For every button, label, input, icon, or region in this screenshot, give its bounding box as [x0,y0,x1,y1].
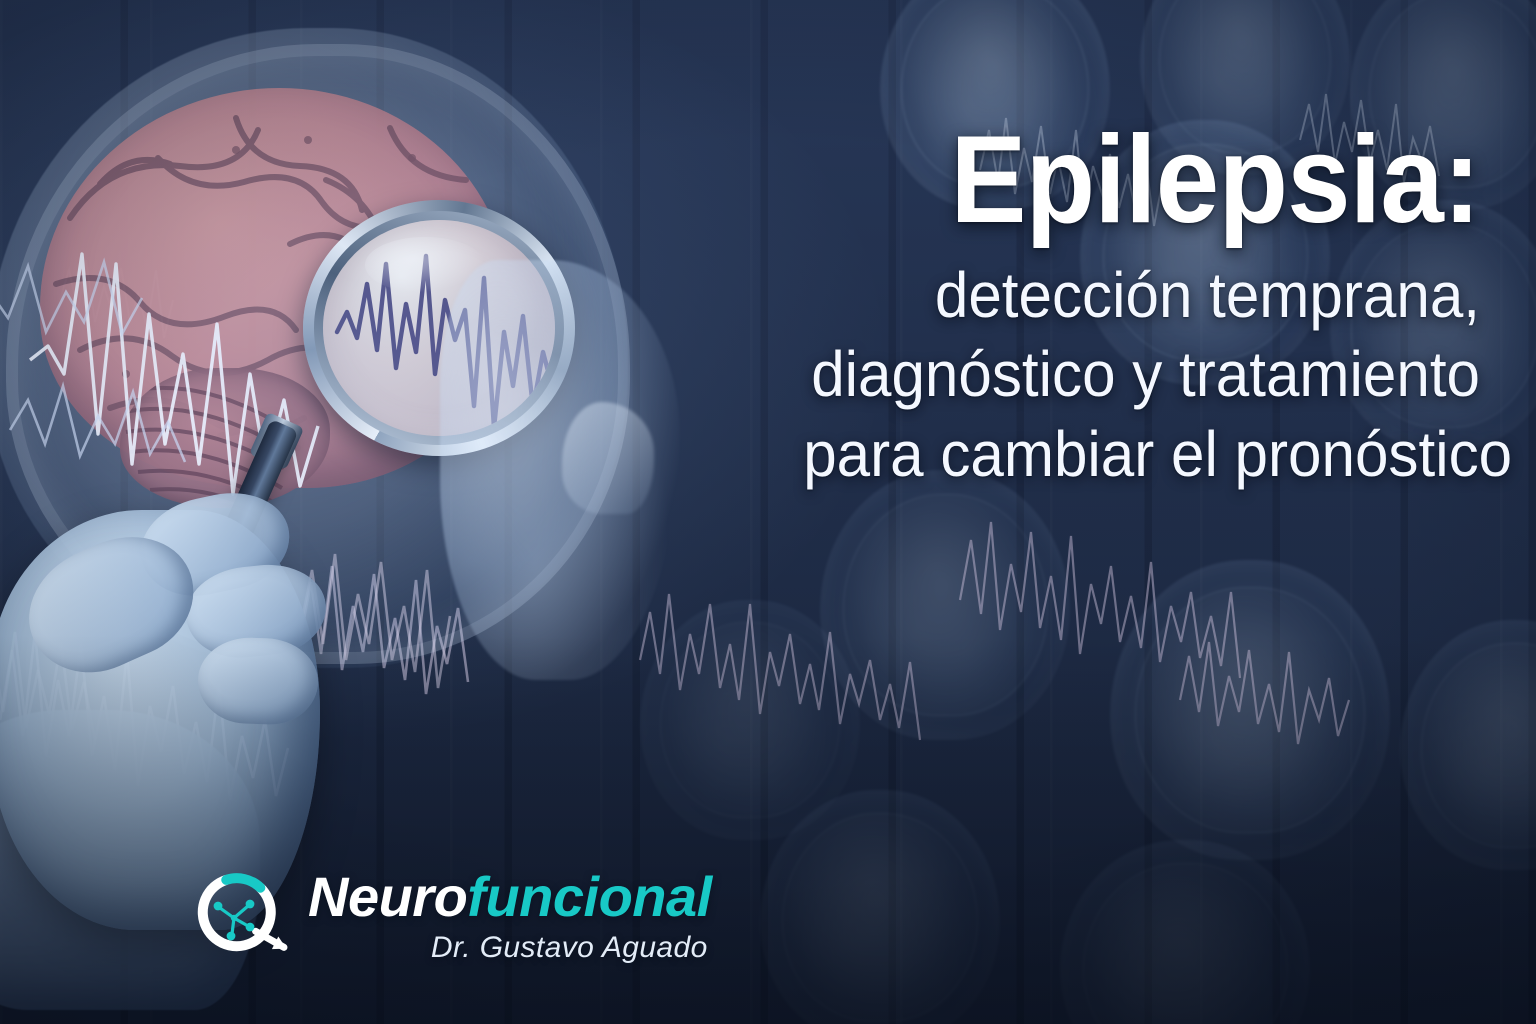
subtitle-line-1: detección temprana, [803,256,1480,335]
poster-canvas: Epilepsia: detección temprana, diagnósti… [0,0,1536,1024]
headline-block: Epilepsia: detección temprana, diagnósti… [760,118,1480,494]
brand-logo[interactable]: Neurofuncional Dr. Gustavo Aguado [186,864,712,968]
page-subtitle: detección temprana, diagnóstico y tratam… [803,256,1480,494]
subtitle-line-2: diagnóstico y tratamiento [803,335,1480,414]
logo-text-group: Neurofuncional Dr. Gustavo Aguado [308,869,712,963]
brand-tagline: Dr. Gustavo Aguado [431,933,708,963]
page-title: Epilepsia: [818,118,1480,242]
glove-finger [197,636,320,726]
neurofuncional-ring-icon [186,864,290,968]
brand-wordmark: Neurofuncional [308,869,712,925]
wordmark-neuro: Neuro [308,865,467,928]
nose [562,402,654,514]
wordmark-funcional: funcional [467,865,711,928]
subtitle-line-3: para cambiar el pronóstico [803,415,1480,494]
